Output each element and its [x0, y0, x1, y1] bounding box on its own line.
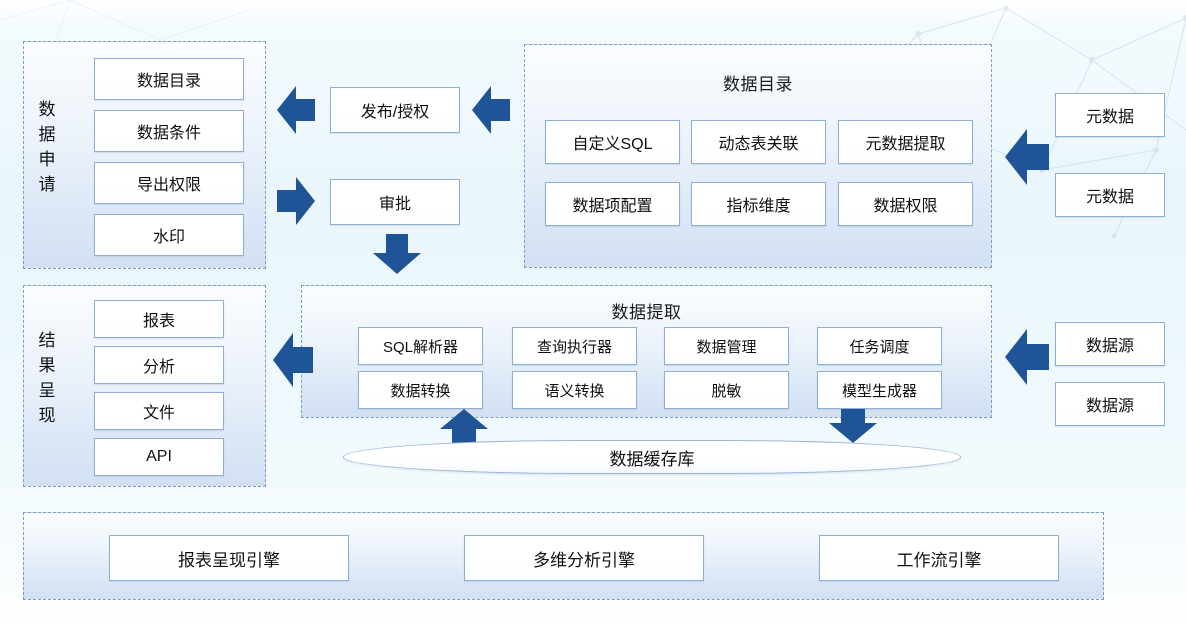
extract-item-5[interactable]: 数据转换 — [358, 371, 483, 409]
extract-item-4-label: 任务调度 — [849, 336, 909, 357]
catalog-item-4[interactable]: 数据项配置 — [545, 182, 680, 226]
extract-item-1[interactable]: SQL解析器 — [358, 327, 483, 365]
extract-item-1-label: SQL解析器 — [383, 336, 458, 357]
result-presentation-label: 结果呈现 — [34, 328, 60, 428]
extract-item-5-label: 数据转换 — [390, 380, 450, 401]
data-application-item-2-label: 数据条件 — [137, 119, 201, 143]
data-application-item-2[interactable]: 数据条件 — [94, 110, 244, 152]
result-presentation-panel: 结果呈现 报表 分析 文件 API — [23, 285, 266, 487]
datasource-item-1[interactable]: 数据源 — [1055, 322, 1165, 366]
data-application-item-1-label: 数据目录 — [137, 67, 201, 91]
approve-label: 审批 — [379, 190, 411, 214]
catalog-item-6[interactable]: 数据权限 — [838, 182, 973, 226]
metadata-item-1[interactable]: 元数据 — [1055, 93, 1165, 137]
metadata-item-2-label: 元数据 — [1086, 183, 1134, 207]
arrow-publish-to-application — [277, 84, 315, 136]
extract-item-8-label: 模型生成器 — [842, 380, 917, 401]
datasource-item-1-label: 数据源 — [1086, 332, 1134, 356]
extract-item-4[interactable]: 任务调度 — [817, 327, 942, 365]
arrow-metadata-to-catalog — [1005, 126, 1049, 188]
extract-panel: 数据提取 SQL解析器 查询执行器 数据管理 任务调度 数据转换 语义转换 脱敏… — [301, 285, 992, 418]
catalog-item-2-label: 动态表关联 — [718, 130, 798, 154]
arrow-catalog-to-publish — [472, 84, 510, 136]
catalog-item-3[interactable]: 元数据提取 — [838, 120, 973, 164]
engine-item-3[interactable]: 工作流引擎 — [819, 535, 1059, 581]
approve-box[interactable]: 审批 — [330, 179, 460, 225]
extract-item-3[interactable]: 数据管理 — [664, 327, 789, 365]
engine-item-2[interactable]: 多维分析引擎 — [464, 535, 704, 581]
data-application-panel: 数据申请 数据目录 数据条件 导出权限 水印 — [23, 41, 266, 269]
metadata-item-2[interactable]: 元数据 — [1055, 173, 1165, 217]
catalog-panel: 数据目录 自定义SQL 动态表关联 元数据提取 数据项配置 指标维度 数据权限 — [524, 44, 992, 268]
result-item-4[interactable]: API — [94, 438, 224, 476]
datasource-item-2-label: 数据源 — [1086, 392, 1134, 416]
cache-store-cylinder[interactable]: 数据缓存库 — [343, 440, 961, 474]
result-item-4-label: API — [146, 448, 172, 466]
catalog-item-3-label: 元数据提取 — [865, 130, 945, 154]
result-item-3-label: 文件 — [143, 399, 175, 423]
result-item-1[interactable]: 报表 — [94, 300, 224, 338]
arrow-application-to-approve — [277, 175, 315, 227]
extract-panel-title: 数据提取 — [302, 298, 991, 323]
catalog-item-5-label: 指标维度 — [726, 192, 790, 216]
extract-item-6[interactable]: 语义转换 — [512, 371, 637, 409]
catalog-item-1[interactable]: 自定义SQL — [545, 120, 680, 164]
datasource-item-2[interactable]: 数据源 — [1055, 382, 1165, 426]
result-item-2-label: 分析 — [143, 353, 175, 377]
publish-authorize-box[interactable]: 发布/授权 — [330, 87, 460, 133]
arrow-approve-to-extract — [371, 234, 423, 274]
data-application-item-3[interactable]: 导出权限 — [94, 162, 244, 204]
diagram-canvas: 数据申请 数据目录 数据条件 导出权限 水印 结果呈现 报表 分析 文件 API — [0, 0, 1186, 630]
extract-item-8[interactable]: 模型生成器 — [817, 371, 942, 409]
data-application-item-1[interactable]: 数据目录 — [94, 58, 244, 100]
catalog-item-2[interactable]: 动态表关联 — [691, 120, 826, 164]
engine-item-2-label: 多维分析引擎 — [533, 546, 635, 571]
catalog-panel-title: 数据目录 — [525, 70, 991, 95]
result-item-2[interactable]: 分析 — [94, 346, 224, 384]
engine-item-1-label: 报表呈现引擎 — [178, 546, 280, 571]
catalog-item-5[interactable]: 指标维度 — [691, 182, 826, 226]
data-application-label: 数据申请 — [34, 97, 60, 197]
extract-item-3-label: 数据管理 — [696, 336, 756, 357]
data-application-item-4-label: 水印 — [153, 223, 185, 247]
data-application-item-3-label: 导出权限 — [137, 171, 201, 195]
extract-item-7[interactable]: 脱敏 — [664, 371, 789, 409]
result-item-3[interactable]: 文件 — [94, 392, 224, 430]
data-application-item-4[interactable]: 水印 — [94, 214, 244, 256]
cache-store-label: 数据缓存库 — [610, 445, 695, 470]
arrow-datasource-to-extract — [1005, 326, 1049, 388]
extract-item-2-label: 查询执行器 — [537, 336, 612, 357]
catalog-item-1-label: 自定义SQL — [572, 130, 652, 154]
extract-item-6-label: 语义转换 — [544, 380, 604, 401]
metadata-item-1-label: 元数据 — [1086, 103, 1134, 127]
publish-authorize-label: 发布/授权 — [361, 98, 429, 122]
catalog-item-4-label: 数据项配置 — [572, 192, 652, 216]
extract-item-7-label: 脱敏 — [711, 380, 741, 401]
engine-panel: 报表呈现引擎 多维分析引擎 工作流引擎 — [23, 512, 1104, 600]
catalog-item-6-label: 数据权限 — [873, 192, 937, 216]
engine-item-1[interactable]: 报表呈现引擎 — [109, 535, 349, 581]
result-item-1-label: 报表 — [143, 307, 175, 331]
engine-item-3-label: 工作流引擎 — [897, 546, 982, 571]
extract-item-2[interactable]: 查询执行器 — [512, 327, 637, 365]
